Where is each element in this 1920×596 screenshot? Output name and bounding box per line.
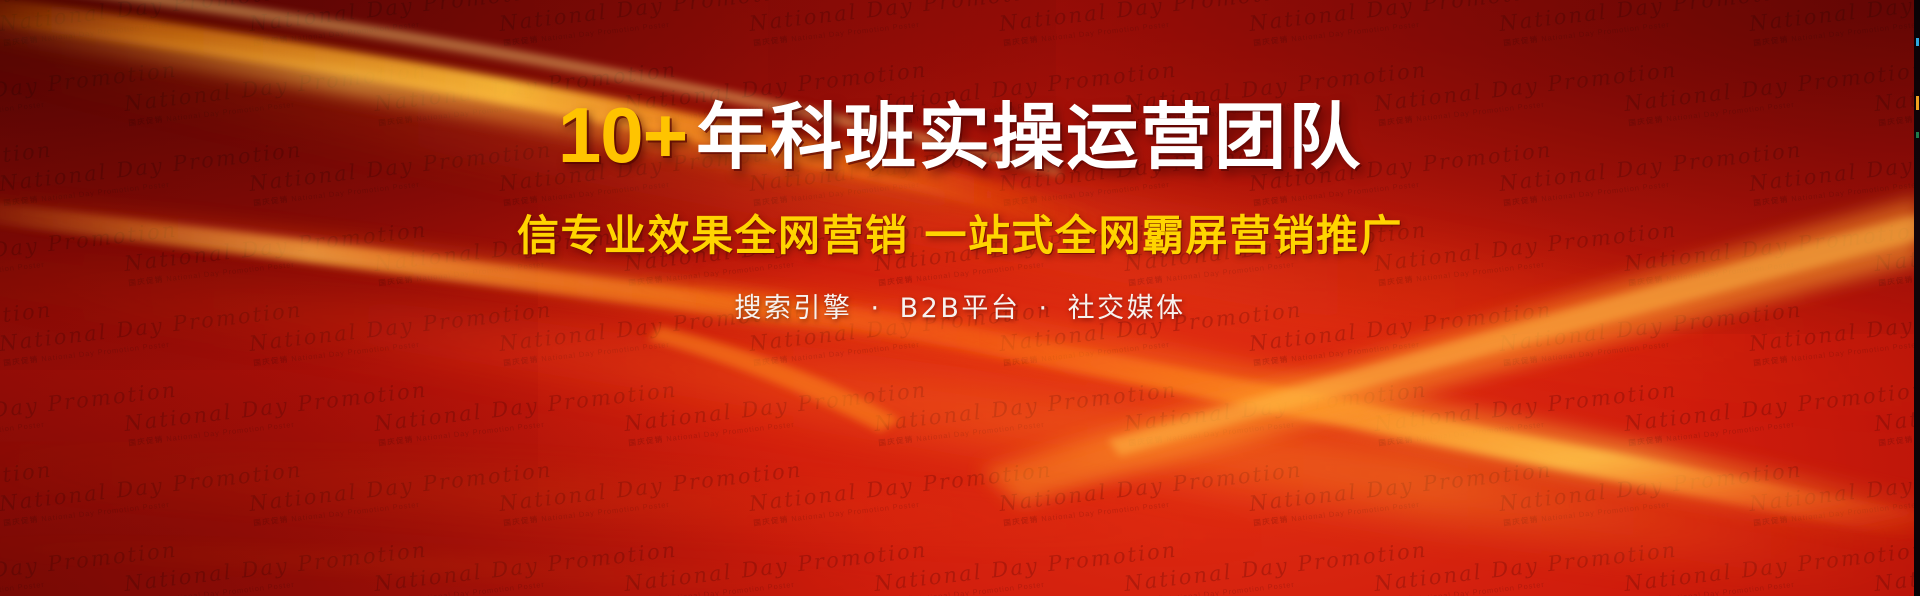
banner-content: 10+ 年科班实操运营团队 信专业效果全网营销 一站式全网霸屏营销推广 搜索引擎… bbox=[0, 0, 1920, 596]
tagline-item-search-engine: 搜索引擎 bbox=[734, 293, 852, 324]
tagline-separator-icon-2: · bbox=[1038, 293, 1049, 324]
edge-artifact-orange bbox=[1916, 96, 1919, 110]
tagline: 搜索引擎 · B2B平台 · 社交媒体 bbox=[734, 286, 1185, 325]
tagline-item-social-media: 社交媒体 bbox=[1068, 293, 1186, 324]
headline: 10+ 年科班实操运营团队 bbox=[558, 96, 1362, 174]
tagline-item-b2b-platform: B2B平台 bbox=[900, 293, 1021, 324]
promotional-banner: National Day Promotion国庆促销 National Day … bbox=[0, 0, 1920, 596]
edge-artifact-blue bbox=[1916, 38, 1919, 46]
subline: 信专业效果全网营销 一站式全网霸屏营销推广 bbox=[517, 202, 1403, 263]
tagline-separator-icon: · bbox=[870, 293, 881, 324]
right-edge-strip bbox=[1914, 0, 1920, 596]
headline-number: 10+ bbox=[558, 96, 687, 174]
headline-text: 年科班实操运营团队 bbox=[696, 101, 1362, 173]
edge-artifact-green bbox=[1916, 132, 1919, 138]
